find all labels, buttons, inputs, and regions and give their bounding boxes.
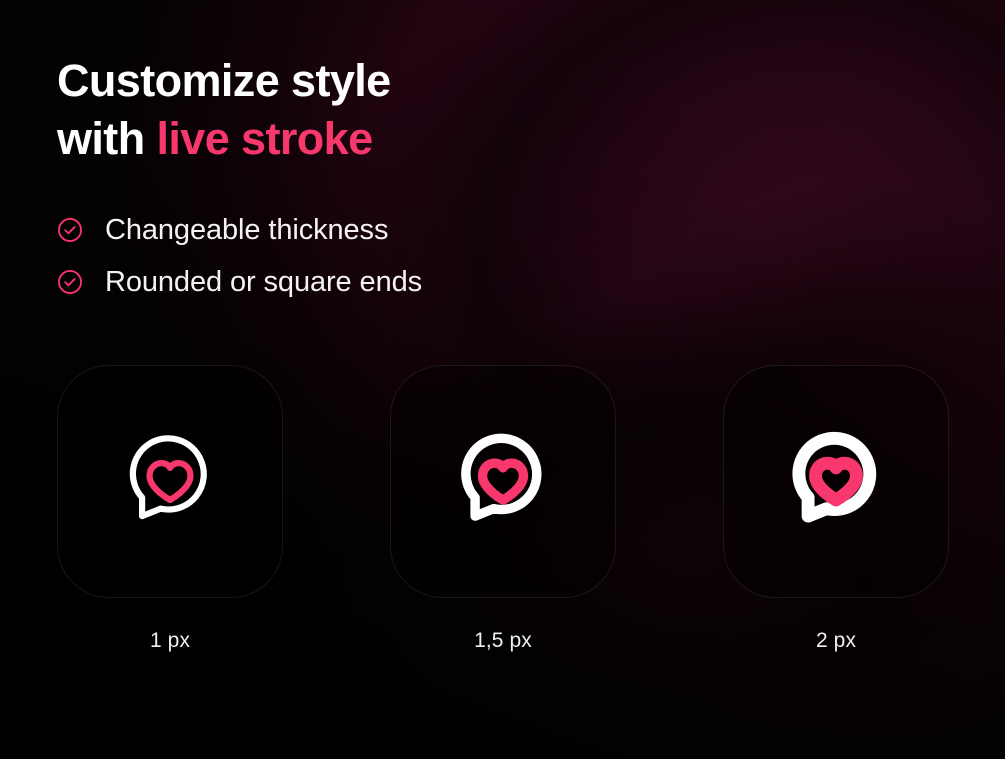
icon-card[interactable] xyxy=(57,365,283,598)
stroke-sample-3: 2 px xyxy=(723,365,949,653)
page-title: Customize style with live stroke xyxy=(57,52,391,168)
icon-card[interactable] xyxy=(390,365,616,598)
feature-list: Changeable thickness Rounded or square e… xyxy=(57,204,422,308)
stroke-caption: 1,5 px xyxy=(390,629,616,653)
slide-canvas: Customize style with live stroke Changea… xyxy=(0,0,1005,759)
chat-bubble-heart-icon xyxy=(774,420,898,544)
check-circle-icon xyxy=(57,269,83,295)
list-item: Rounded or square ends xyxy=(57,256,422,308)
chat-bubble-heart-icon xyxy=(441,420,565,544)
list-item-label: Rounded or square ends xyxy=(105,266,422,299)
stroke-caption: 2 px xyxy=(723,629,949,653)
stroke-caption: 1 px xyxy=(57,629,283,653)
stroke-sample-2: 1,5 px xyxy=(390,365,616,653)
chat-bubble-heart-icon xyxy=(108,420,232,544)
headline-line-2-plain: with xyxy=(57,113,156,164)
list-item: Changeable thickness xyxy=(57,204,422,256)
headline-line-1: Customize style xyxy=(57,55,391,106)
headline-line-2-accent: live stroke xyxy=(156,113,372,164)
stroke-sample-1: 1 px xyxy=(57,365,283,653)
icon-card[interactable] xyxy=(723,365,949,598)
stroke-sample-row: 1 px 1,5 px xyxy=(57,365,949,653)
check-circle-icon xyxy=(57,217,83,243)
list-item-label: Changeable thickness xyxy=(105,214,388,247)
